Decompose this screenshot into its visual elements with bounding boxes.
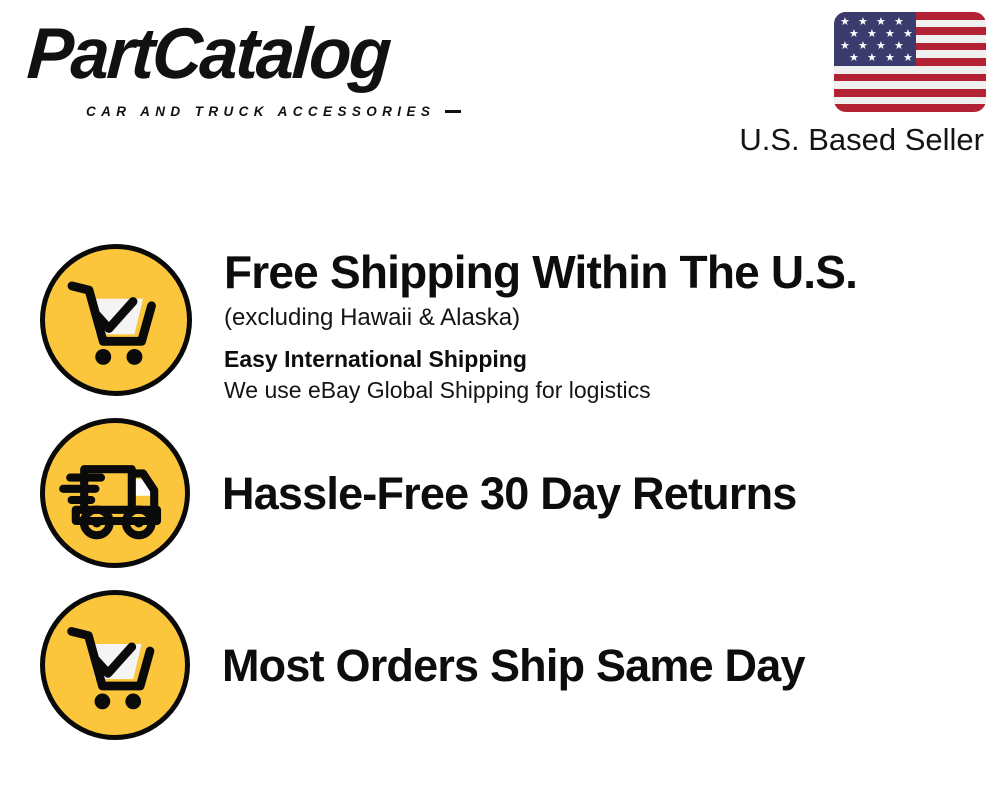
flag-stripe [834, 97, 986, 105]
flag-stripe [834, 66, 986, 74]
flag-star: ★ [903, 29, 913, 40]
flag-star: ★ [849, 53, 859, 64]
flag-stripe [834, 89, 986, 97]
brand-wordmark: PartCatalog [25, 18, 475, 90]
flag-star: ★ [876, 41, 886, 52]
flag-star: ★ [876, 17, 886, 28]
brand-logo[interactable]: PartCatalog CAR AND TRUCK ACCESSORIES [24, 18, 494, 118]
feature-text: Most Orders Ship Same Day [222, 639, 805, 691]
flag-star: ★ [858, 41, 868, 52]
feature-text: Hassle-Free 30 Day Returns [222, 467, 796, 519]
feature-row: Free Shipping Within The U.S. (excluding… [40, 244, 980, 406]
seller-badge: ★ ★ ★ ★ ★ ★ ★ ★ ★ ★ ★ ★ ★ ★ ★ ★ U.S. Bas… [714, 12, 986, 158]
feature-heading: Hassle-Free 30 Day Returns [222, 469, 796, 519]
flag-stripe [834, 104, 986, 112]
feature-row: Most Orders Ship Same Day [40, 590, 980, 740]
cart-check-icon [40, 590, 190, 740]
feature-row: Hassle-Free 30 Day Returns [40, 418, 980, 568]
feature-subtext-strong: Easy International Shipping [224, 344, 857, 374]
flag-star: ★ [840, 17, 850, 28]
feature-subtext: (excluding Hawaii & Alaska) [224, 302, 857, 334]
feature-heading: Most Orders Ship Same Day [222, 641, 805, 691]
cart-check-icon [40, 244, 192, 396]
flag-star: ★ [867, 53, 877, 64]
flag-star: ★ [858, 17, 868, 28]
flag-star: ★ [885, 53, 895, 64]
flag-stripe [834, 74, 986, 82]
feature-heading: Free Shipping Within The U.S. [224, 246, 857, 298]
brand-tagline-row: CAR AND TRUCK ACCESSORIES [86, 104, 506, 119]
flag-star: ★ [903, 53, 913, 64]
us-flag-icon: ★ ★ ★ ★ ★ ★ ★ ★ ★ ★ ★ ★ ★ ★ ★ ★ [834, 12, 986, 112]
flag-stripe [834, 81, 986, 89]
flag-star: ★ [849, 29, 859, 40]
feature-subtext-note: We use eBay Global Shipping for logistic… [224, 375, 857, 406]
flag-star: ★ [840, 41, 850, 52]
flag-star: ★ [894, 41, 904, 52]
seller-label: U.S. Based Seller [714, 122, 984, 158]
flag-star: ★ [867, 29, 877, 40]
flag-star: ★ [894, 17, 904, 28]
delivery-truck-icon [40, 418, 190, 568]
banner-header: PartCatalog CAR AND TRUCK ACCESSORIES ★ … [0, 0, 1000, 180]
brand-tagline: CAR AND TRUCK ACCESSORIES [86, 104, 435, 119]
feature-text: Free Shipping Within The U.S. (excluding… [224, 244, 857, 406]
flag-star: ★ [885, 29, 895, 40]
brand-tagline-rule [445, 110, 461, 113]
